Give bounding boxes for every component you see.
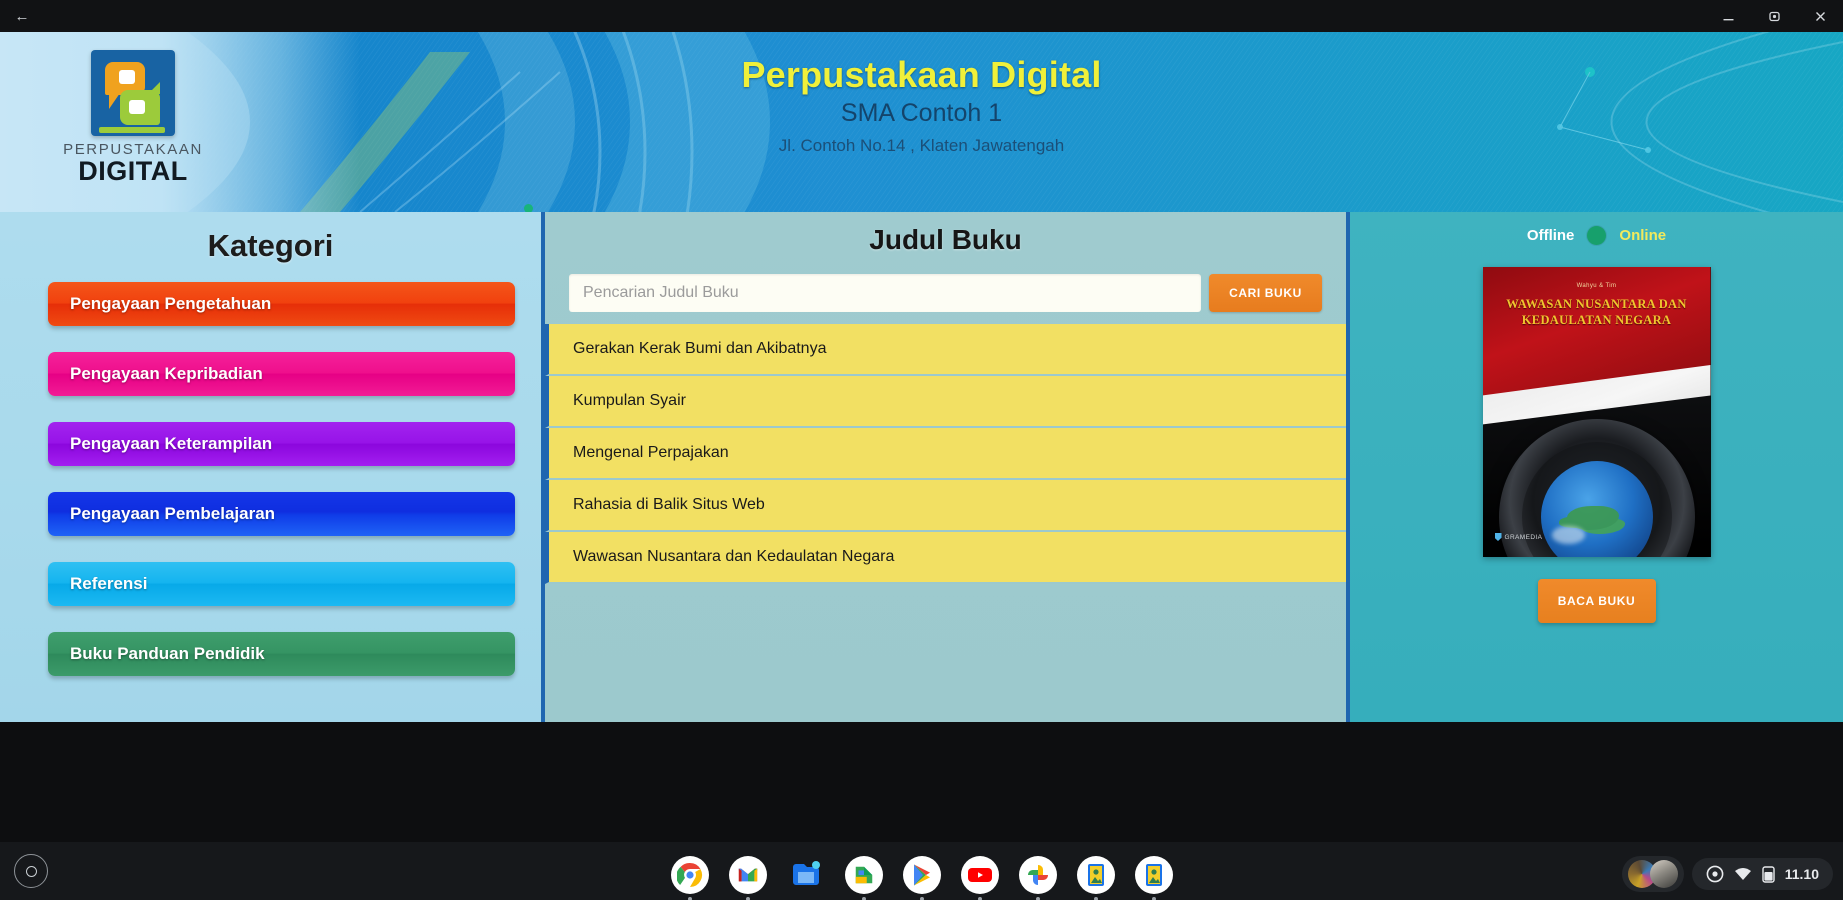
- play-store-icon[interactable]: [903, 856, 941, 894]
- book-list-title: Judul Buku: [545, 212, 1346, 256]
- logo-text-line1: PERPUSTAKAAN: [63, 142, 203, 157]
- search-row: CARI BUKU: [569, 274, 1322, 312]
- cover-publisher: GRAMEDIA: [1495, 533, 1543, 541]
- book-list-item[interactable]: Mengenal Perpajakan: [545, 428, 1346, 480]
- shelf-bar: 11.10: [0, 842, 1843, 900]
- maximize-button[interactable]: [1751, 0, 1797, 32]
- book-cover-image[interactable]: Wahyu & Tim WAWASAN NUSANTARA DAN KEDAUL…: [1483, 267, 1711, 557]
- book-title: Wawasan Nusantara dan Kedaulatan Negara: [573, 548, 894, 566]
- battery-icon[interactable]: [1762, 865, 1775, 883]
- category-label: Buku Panduan Pendidik: [70, 644, 265, 664]
- minimize-button[interactable]: [1705, 0, 1751, 32]
- window-titlebar: ←: [0, 0, 1843, 32]
- launcher-button[interactable]: [14, 854, 48, 888]
- book-title: Gerakan Kerak Bumi dan Akibatnya: [573, 340, 826, 358]
- connection-status: Offline Online: [1350, 212, 1843, 245]
- logo-text-line2: DIGITAL: [78, 157, 187, 185]
- main-content: Kategori Pengayaan Pengetahuan Pengayaan…: [0, 212, 1843, 722]
- book-list-item[interactable]: Rahasia di Balik Situs Web: [545, 480, 1346, 532]
- search-button[interactable]: CARI BUKU: [1209, 274, 1322, 312]
- read-book-button[interactable]: BACA BUKU: [1538, 579, 1656, 623]
- system-tray: 11.10: [1622, 856, 1833, 892]
- category-label: Pengayaan Pembelajaran: [70, 504, 275, 524]
- app-8-icon[interactable]: [1077, 856, 1115, 894]
- shelf-app-icons: [671, 856, 1173, 894]
- sidebar-item-pengayaan-kepribadian[interactable]: Pengayaan Kepribadian: [48, 352, 515, 396]
- slides-icon[interactable]: [845, 856, 883, 894]
- book-list: Gerakan Kerak Bumi dan Akibatnya Kumpula…: [545, 324, 1346, 584]
- category-label: Pengayaan Kepribadian: [70, 364, 263, 384]
- sidebar-item-pengayaan-pembelajaran[interactable]: Pengayaan Pembelajaran: [48, 492, 515, 536]
- book-title: Mengenal Perpajakan: [573, 444, 729, 462]
- book-list-panel: Judul Buku CARI BUKU Gerakan Kerak Bumi …: [545, 212, 1350, 722]
- app-root: ←: [0, 0, 1843, 900]
- status-offline-label: Offline: [1527, 227, 1575, 244]
- photos-icon[interactable]: [1019, 856, 1057, 894]
- sidebar-title: Kategori: [0, 212, 541, 264]
- sidebar-item-pengayaan-pengetahuan[interactable]: Pengayaan Pengetahuan: [48, 282, 515, 326]
- cover-title: WAWASAN NUSANTARA DAN KEDAULATAN NEGARA: [1493, 297, 1701, 328]
- category-list: Pengayaan Pengetahuan Pengayaan Kepribad…: [0, 282, 541, 676]
- app-logo: PERPUSTAKAAN DIGITAL: [18, 50, 248, 210]
- status-online-label: Online: [1619, 227, 1666, 244]
- desktop-shelf: 11.10: [0, 722, 1843, 900]
- clock: 11.10: [1785, 866, 1819, 882]
- back-arrow-icon[interactable]: ←: [0, 0, 44, 32]
- book-list-item[interactable]: Wawasan Nusantara dan Kedaulatan Negara: [545, 532, 1346, 584]
- sidebar-item-pengayaan-keterampilan[interactable]: Pengayaan Keterampilan: [48, 422, 515, 466]
- category-label: Pengayaan Pengetahuan: [70, 294, 271, 314]
- book-title: Rahasia di Balik Situs Web: [573, 496, 765, 514]
- sidebar-item-buku-panduan-pendidik[interactable]: Buku Panduan Pendidik: [48, 632, 515, 676]
- gear-icon[interactable]: [1706, 865, 1724, 883]
- chrome-icon[interactable]: [671, 856, 709, 894]
- status-area[interactable]: 11.10: [1692, 858, 1833, 890]
- library-logo-icon: [91, 50, 175, 136]
- cover-author: Wahyu & Tim: [1483, 283, 1711, 289]
- status-toggle-indicator[interactable]: [1587, 226, 1606, 245]
- publisher-logo-icon: [1495, 533, 1502, 541]
- book-title: Kumpulan Syair: [573, 392, 686, 410]
- user-avatars[interactable]: [1622, 856, 1684, 892]
- book-preview-panel: Offline Online Wahyu & Tim WAWASAN NUSAN…: [1350, 212, 1843, 722]
- gmail-icon[interactable]: [729, 856, 767, 894]
- category-label: Pengayaan Keterampilan: [70, 434, 272, 454]
- window-controls: [1705, 0, 1843, 32]
- close-button[interactable]: [1797, 0, 1843, 32]
- search-input[interactable]: [569, 274, 1201, 312]
- files-icon[interactable]: [787, 856, 825, 894]
- app-header: PERPUSTAKAAN DIGITAL Perpustakaan Digita…: [0, 32, 1843, 212]
- category-sidebar: Kategori Pengayaan Pengetahuan Pengayaan…: [0, 212, 545, 722]
- avatar: [1650, 860, 1678, 888]
- book-list-item[interactable]: Gerakan Kerak Bumi dan Akibatnya: [545, 324, 1346, 376]
- wifi-icon[interactable]: [1734, 867, 1752, 881]
- sidebar-item-referensi[interactable]: Referensi: [48, 562, 515, 606]
- publisher-name: GRAMEDIA: [1505, 534, 1543, 541]
- youtube-icon[interactable]: [961, 856, 999, 894]
- book-list-item[interactable]: Kumpulan Syair: [545, 376, 1346, 428]
- header-accent-dot: [524, 204, 533, 212]
- category-label: Referensi: [70, 574, 147, 594]
- app-9-icon[interactable]: [1135, 856, 1173, 894]
